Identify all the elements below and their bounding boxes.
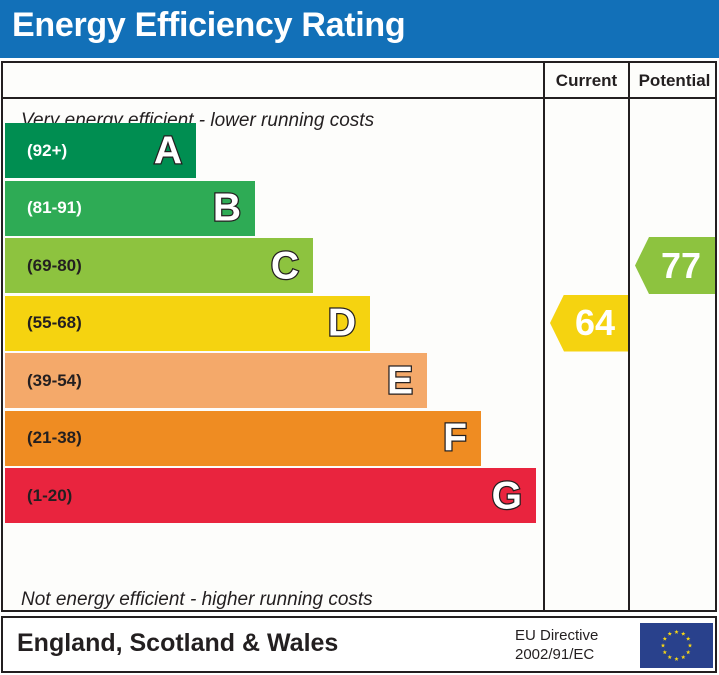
rating-table: Current Potential Very energy efficient … bbox=[1, 61, 717, 612]
band-row-e: (39-54)E bbox=[5, 353, 427, 408]
band-bar-chart: (92+)A(81-91)B(69-80)C(55-68)D(39-54)E(2… bbox=[3, 99, 541, 612]
band-row-g: (1-20)G bbox=[5, 468, 536, 523]
band-row-a: (92+)A bbox=[5, 123, 196, 178]
eu-flag-icon bbox=[640, 623, 713, 668]
footer-directive-line2: 2002/91/EC bbox=[515, 646, 633, 665]
band-row-d: (55-68)D bbox=[5, 296, 370, 351]
band-letter-g: G bbox=[492, 476, 522, 515]
band-range-a: (92+) bbox=[27, 141, 67, 161]
band-row-f: (21-38)F bbox=[5, 411, 481, 466]
rating-badge-current: 64 bbox=[550, 295, 628, 352]
band-letter-e: E bbox=[387, 361, 413, 400]
band-row-b: (81-91)B bbox=[5, 181, 255, 236]
footer-bar: England, Scotland & Wales EU Directive 2… bbox=[1, 616, 717, 673]
column-divider-current bbox=[543, 63, 545, 610]
column-divider-potential bbox=[628, 63, 630, 610]
band-range-g: (1-20) bbox=[27, 486, 72, 506]
energy-efficiency-rating-certificate: Energy Efficiency Rating Current Potenti… bbox=[0, 0, 719, 675]
footer-directive-line1: EU Directive bbox=[515, 627, 633, 646]
title-bar: Energy Efficiency Rating bbox=[0, 0, 719, 58]
page-title: Energy Efficiency Rating bbox=[12, 6, 405, 45]
band-range-f: (21-38) bbox=[27, 428, 82, 448]
band-range-c: (69-80) bbox=[27, 256, 82, 276]
footer-directive-label: EU Directive 2002/91/EC bbox=[515, 627, 633, 665]
band-range-b: (81-91) bbox=[27, 198, 82, 218]
band-letter-f: F bbox=[443, 419, 467, 458]
band-letter-d: D bbox=[328, 304, 356, 343]
footer-region-label: England, Scotland & Wales bbox=[17, 629, 338, 658]
rating-badge-potential: 77 bbox=[635, 237, 715, 294]
band-row-c: (69-80)C bbox=[5, 238, 313, 293]
column-header-potential: Potential bbox=[630, 71, 719, 91]
band-range-e: (39-54) bbox=[27, 371, 82, 391]
rating-value-current: 64 bbox=[563, 305, 615, 341]
rating-value-potential: 77 bbox=[649, 248, 701, 284]
band-letter-c: C bbox=[271, 246, 299, 285]
band-range-d: (55-68) bbox=[27, 313, 82, 333]
band-letter-b: B bbox=[213, 189, 241, 228]
band-letter-a: A bbox=[154, 131, 182, 170]
column-header-current: Current bbox=[545, 71, 628, 91]
